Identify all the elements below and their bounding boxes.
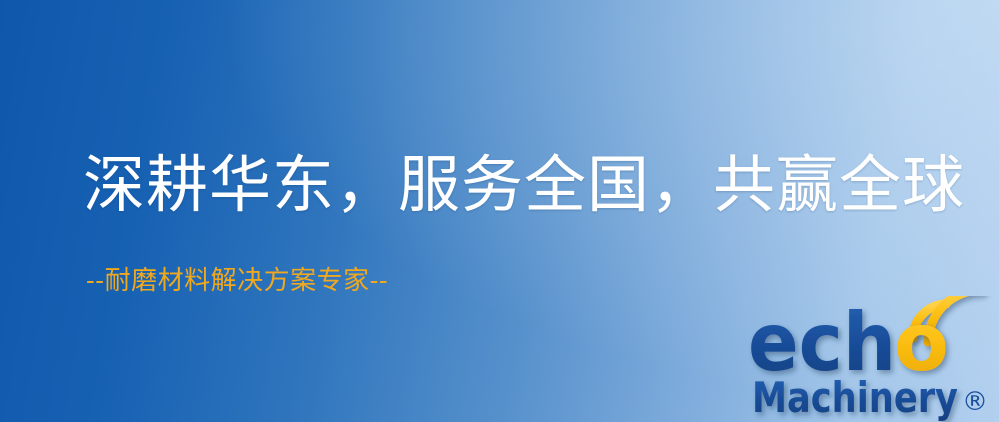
echo-machinery-logo: ech o Machinery ® <box>748 296 999 422</box>
logo-tagline: Machinery <box>752 373 958 422</box>
banner-subtitle: --耐磨材料解决方案专家-- <box>86 266 388 297</box>
banner-headline: 深耕华东，服务全国，共赢全球 <box>83 152 965 217</box>
registered-trademark-icon: ® <box>962 387 988 417</box>
hero-banner: 深耕华东，服务全国，共赢全球 --耐磨材料解决方案专家-- <box>0 0 999 422</box>
